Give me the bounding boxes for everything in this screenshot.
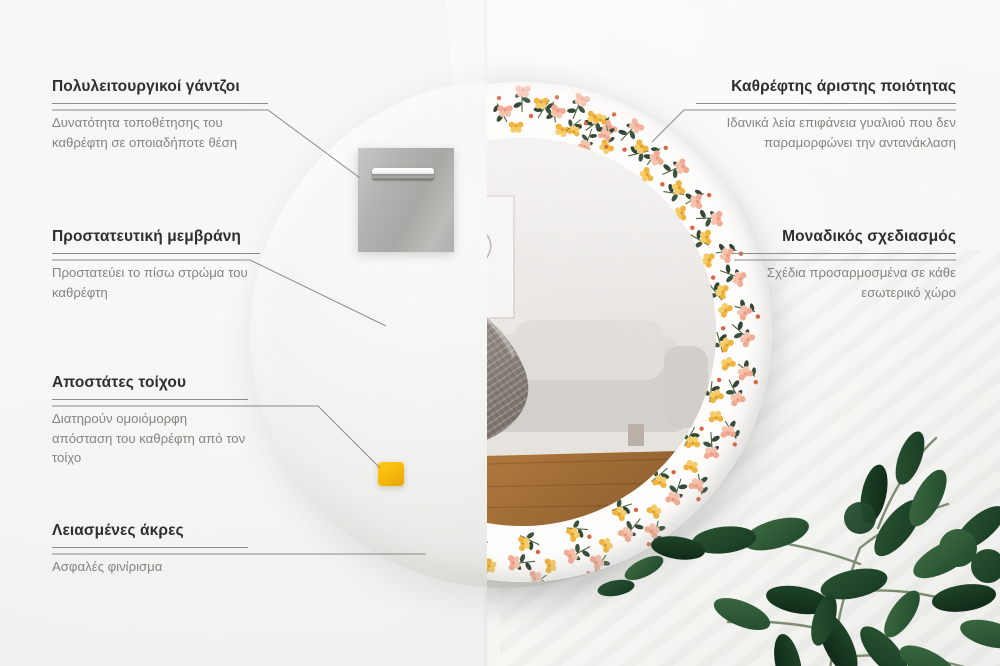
callout-edges-rule bbox=[52, 547, 248, 548]
yellow-wall-spacer bbox=[378, 462, 404, 486]
callout-membrane-rule bbox=[52, 253, 260, 254]
callout-edges: Λειασμένες άκρες Ασφαλές φινίρισμα bbox=[52, 522, 248, 577]
callout-hooks-description: Δυνατότητα τοποθέτησης του καθρέφτη σε ο… bbox=[52, 113, 268, 152]
callout-hooks-title: Πολυλειτουργικοί γάντζοι bbox=[52, 78, 268, 96]
callout-edges-title: Λειασμένες άκρες bbox=[52, 522, 248, 540]
callout-spacers: Αποστάτες τοίχου Διατηρούν ομοιόμορφη απ… bbox=[52, 374, 248, 468]
callout-design-rule bbox=[732, 253, 956, 254]
callout-spacers-title: Αποστάτες τοίχου bbox=[52, 374, 248, 392]
callout-hooks-rule bbox=[52, 103, 268, 104]
callout-membrane-description: Προστατεύει το πίσω στρώμα του καθρέφτη bbox=[52, 263, 260, 302]
wall-hook-slot-lip bbox=[372, 178, 434, 182]
callout-membrane-title: Προστατευτική μεμβράνη bbox=[52, 228, 260, 246]
callout-spacers-description: Διατηρούν ομοιόμορφη απόσταση του καθρέφ… bbox=[52, 409, 248, 468]
callout-edges-description: Ασφαλές φινίρισμα bbox=[52, 557, 248, 577]
callout-design-description: Σχέδια προσαρμοσμένα σε κάθε εσωτερικό χ… bbox=[732, 263, 956, 302]
callout-spacers-rule bbox=[52, 399, 248, 400]
callout-membrane: Προστατευτική μεμβράνη Προστατεύει το πί… bbox=[52, 228, 260, 302]
callout-quality: Καθρέφτης άριστης ποιότητας Ιδανικά λεία… bbox=[696, 78, 956, 152]
mirror-frame bbox=[487, 82, 772, 582]
callout-quality-title: Καθρέφτης άριστης ποιότητας bbox=[696, 78, 956, 96]
infographic-canvas: Πολυλειτουργικοί γάντζοι Δυνατότητα τοπο… bbox=[0, 0, 1000, 666]
callout-design-title: Μοναδικός σχεδιασμός bbox=[732, 228, 956, 246]
callout-quality-rule bbox=[696, 103, 956, 104]
callout-hooks: Πολυλειτουργικοί γάντζοι Δυνατότητα τοπο… bbox=[52, 78, 268, 152]
framed-round-mirror bbox=[487, 82, 772, 582]
callout-design: Μοναδικός σχεδιασμός Σχέδια προσαρμοσμέν… bbox=[732, 228, 956, 302]
callout-quality-description: Ιδανικά λεία επιφάνεια γυαλιού που δεν π… bbox=[696, 113, 956, 152]
wall-hook-plate bbox=[358, 148, 454, 252]
